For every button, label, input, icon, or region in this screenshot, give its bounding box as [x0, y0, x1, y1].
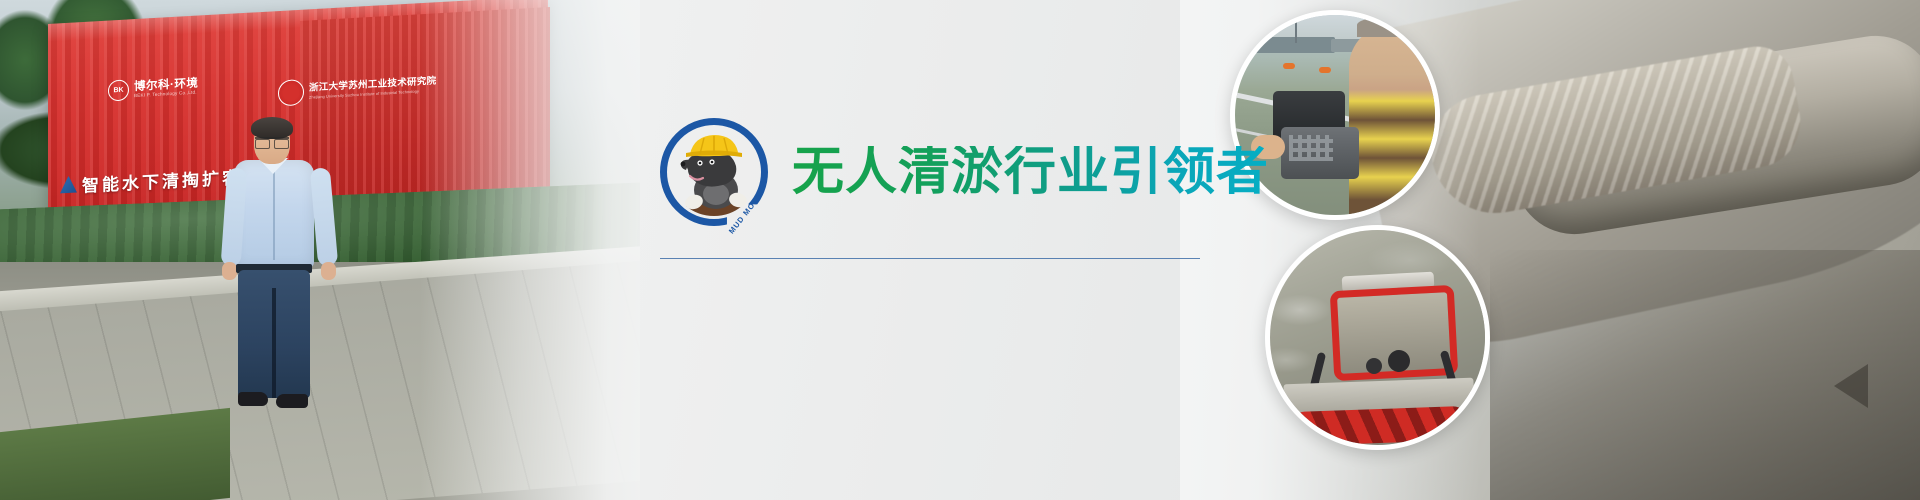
- dredging-robot-photo: [1265, 225, 1490, 450]
- left-photo-fade-overlay: [420, 0, 640, 500]
- remote-control-panel: [1281, 127, 1359, 179]
- float-buoy: [1319, 67, 1331, 73]
- container-site-photo: BK 博尔科·环境 BEKI P. Technology Co.,Ltd. 浙江…: [0, 0, 640, 500]
- basin-shed: [1245, 37, 1335, 53]
- mole-mascot-logo[interactable]: MUD MOLE: [660, 118, 768, 226]
- person-hand-right: [321, 262, 336, 280]
- hero-banner: BK 博尔科·环境 BEKI P. Technology Co.,Ltd. 浙江…: [0, 0, 1920, 500]
- brand-block: MUD MOLE 无人清淤行业引领者: [660, 118, 1260, 288]
- robot-auger: [1287, 406, 1470, 446]
- float-buoy: [1283, 63, 1295, 69]
- slogan-divider: [660, 258, 1200, 259]
- person-shoe-left: [238, 392, 268, 406]
- person-hand-left: [222, 262, 237, 280]
- banner-slogan: 无人清淤行业引领者: [792, 146, 1269, 198]
- triangle-mark-icon: [60, 175, 77, 193]
- robot-wheel: [1366, 358, 1382, 374]
- partner-seal-icon: [278, 79, 304, 106]
- person-standing: [218, 120, 338, 420]
- sun-hat-icon: [1357, 17, 1429, 37]
- person-trousers: [238, 270, 310, 398]
- person-arm-right: [310, 167, 338, 266]
- brand-row: MUD MOLE 无人清淤行业引领者: [660, 118, 1260, 226]
- brand-badge-icon: BK: [108, 79, 129, 101]
- person-hair: [251, 117, 293, 139]
- robot-wheel: [1388, 350, 1410, 372]
- utility-pole: [1295, 21, 1297, 43]
- operator-person: [1349, 25, 1440, 215]
- person-shoe-right: [276, 394, 308, 408]
- arrow-icon: [1834, 364, 1868, 408]
- glasses-icon: [255, 137, 289, 147]
